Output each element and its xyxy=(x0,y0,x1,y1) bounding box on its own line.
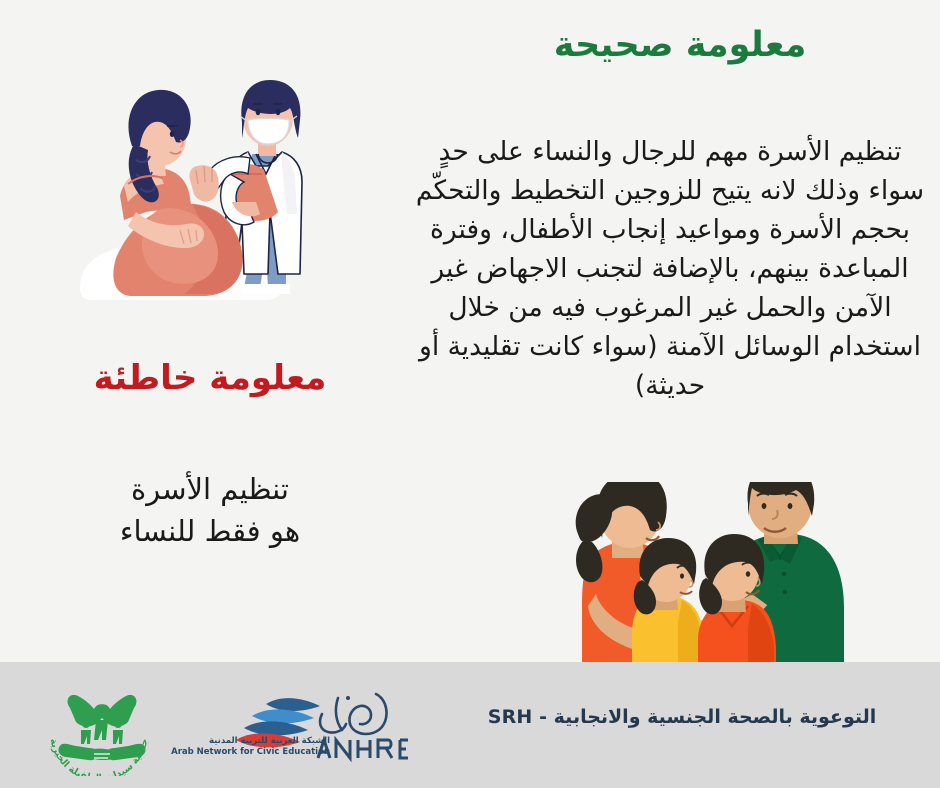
correct-info-heading: معلومة صحيحة xyxy=(430,24,930,66)
anhre-arabic-name: الشبكة العربية للتربية المدنية xyxy=(170,736,330,746)
footer-caption: التوعوية بالصحة الجنسية والانجابية - SRH xyxy=(442,706,922,728)
anhre-logo: الشبكة العربية للتربية المدنية Arab Netw… xyxy=(170,692,410,764)
correct-info-body: تنظيم الأسرة مهم للرجال والنساء على حدٍ … xyxy=(410,133,930,406)
family-of-four-illustration xyxy=(552,482,884,664)
infographic-canvas: معلومة صحيحة تنظيم الأسرة مهم للرجال وال… xyxy=(0,0,940,788)
wrong-info-heading: معلومة خاطئة xyxy=(20,358,400,399)
tafila-ladies-charity-logo: جمعية سيدات الطفيلة الخيرية xyxy=(36,678,168,776)
pregnant-woman-and-doctor-illustration xyxy=(72,62,372,324)
anhre-english-name: Arab Network for Civic Education xyxy=(170,747,330,757)
wrong-info-body: تنظيم الأسرة هو فقط للنساء xyxy=(30,468,390,552)
